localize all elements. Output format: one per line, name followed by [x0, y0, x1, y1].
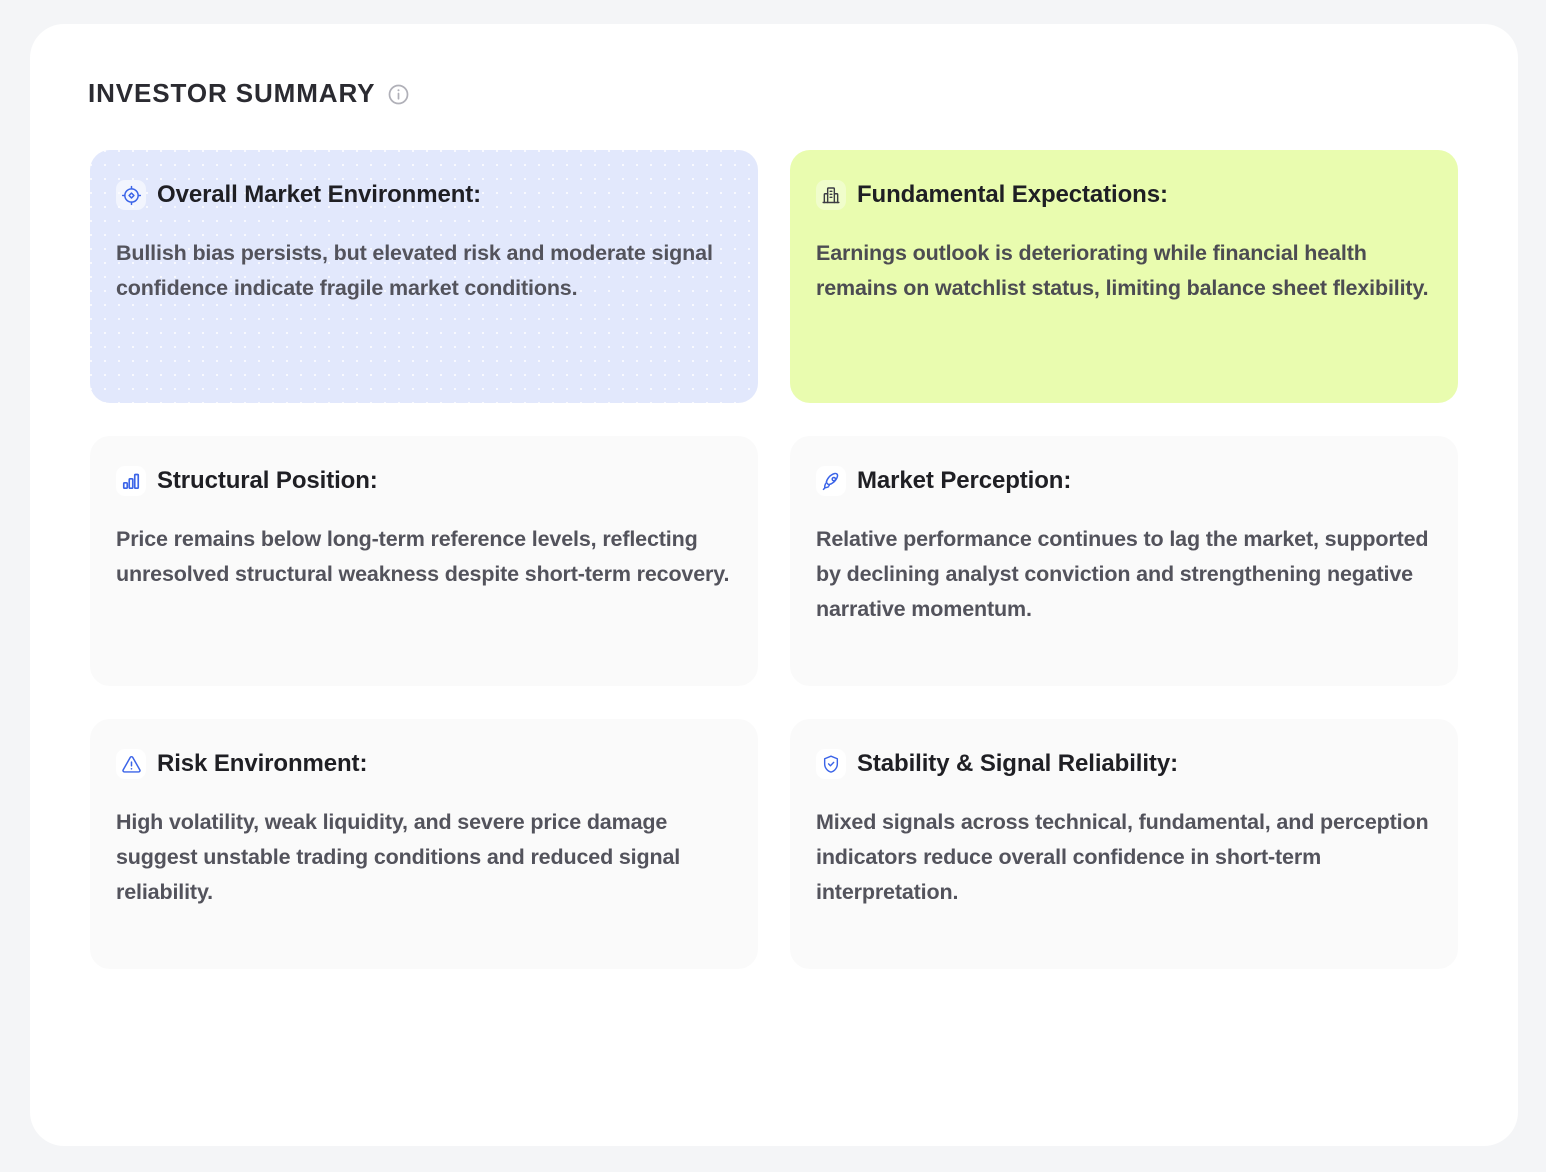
card-body-text: Earnings outlook is deteriorating while … — [816, 236, 1430, 306]
card-header: Risk Environment: — [116, 749, 730, 779]
summary-card-structural-position: Structural Position: Price remains below… — [90, 436, 758, 686]
card-body-text: Bullish bias persists, but elevated risk… — [116, 236, 730, 306]
card-title: Fundamental Expectations: — [857, 182, 1168, 208]
rocket-icon — [816, 466, 846, 496]
card-title: Structural Position: — [157, 468, 378, 494]
crosshair-target-icon — [116, 180, 146, 210]
card-title: Market Perception: — [857, 468, 1071, 494]
card-header: Market Perception: — [816, 466, 1430, 496]
summary-card-fundamental-expectations: Fundamental Expectations: Earnings outlo… — [790, 150, 1458, 403]
card-header: Fundamental Expectations: — [816, 180, 1430, 210]
bar-chart-icon — [116, 466, 146, 496]
card-title: Overall Market Environment: — [157, 182, 481, 208]
card-body-text: Mixed signals across technical, fundamen… — [816, 805, 1430, 909]
card-title: Risk Environment: — [157, 751, 367, 777]
card-body-text: High volatility, weak liquidity, and sev… — [116, 805, 730, 909]
info-circle-icon[interactable] — [387, 83, 410, 106]
warning-triangle-icon — [116, 749, 146, 779]
building-icon — [816, 180, 846, 210]
investor-summary-panel: INVESTOR SUMMARY — [30, 24, 1518, 1146]
summary-card-stability-signal-reliability: Stability & Signal Reliability: Mixed si… — [790, 719, 1458, 969]
summary-card-overall-market-environment: Overall Market Environment: Bullish bias… — [90, 150, 758, 403]
card-header: Overall Market Environment: — [116, 180, 730, 210]
shield-check-icon — [816, 749, 846, 779]
card-header: Stability & Signal Reliability: — [816, 749, 1430, 779]
page-title: INVESTOR SUMMARY — [88, 80, 375, 106]
card-body-text: Price remains below long-term reference … — [116, 522, 730, 592]
summary-card-market-perception: Market Perception: Relative performance … — [790, 436, 1458, 686]
card-title: Stability & Signal Reliability: — [857, 751, 1178, 777]
summary-card-risk-environment: Risk Environment: High volatility, weak … — [90, 719, 758, 969]
panel-header: INVESTOR SUMMARY — [88, 80, 1518, 106]
card-body-text: Relative performance continues to lag th… — [816, 522, 1430, 626]
card-header: Structural Position: — [116, 466, 730, 496]
summary-card-grid: Overall Market Environment: Bullish bias… — [90, 150, 1518, 969]
